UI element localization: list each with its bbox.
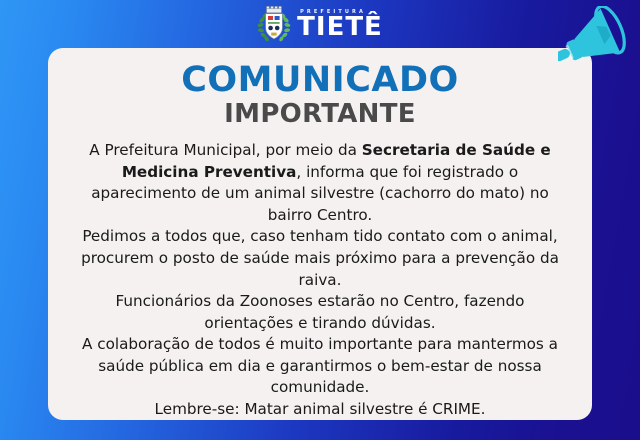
body-run: A Prefeitura Municipal, por meio da: [89, 141, 361, 159]
brand-prefeitura-label: PREFEITURA: [300, 10, 366, 15]
announcement-paragraph: Funcionários da Zoonoses estarão no Cent…: [78, 291, 562, 334]
announcement-poster: PREFEITURA TIETÊ COMUNICADO IMPORTANTE: [0, 0, 640, 440]
announcement-paragraph: Pedimos a todos que, caso tenham tido co…: [78, 226, 562, 291]
body-run: Funcionários da Zoonoses estarão no Cent…: [116, 292, 525, 332]
body-run: A colaboração de todos é muito important…: [82, 335, 558, 396]
brand-city-label: TIETÊ: [297, 16, 383, 40]
announcement-body: A Prefeitura Municipal, por meio da Secr…: [78, 140, 562, 421]
announcement-paragraph: A colaboração de todos é muito important…: [78, 334, 562, 399]
megaphone-icon: [558, 6, 638, 88]
body-run: Pedimos a todos que, caso tenham tido co…: [81, 227, 559, 288]
announcement-paragraph: Lembre-se: Matar animal silvestre é CRIM…: [78, 399, 562, 421]
tiete-coat-of-arms-icon: [257, 6, 291, 46]
announcement-card: COMUNICADO IMPORTANTE A Prefeitura Munic…: [48, 48, 592, 420]
announcement-paragraph: A Prefeitura Municipal, por meio da Secr…: [78, 140, 562, 226]
page-title: COMUNICADO: [78, 62, 562, 99]
body-run: Lembre-se: Matar animal silvestre é CRIM…: [155, 400, 486, 418]
page-subtitle: IMPORTANTE: [78, 101, 562, 128]
brand-wordmark: PREFEITURA TIETÊ: [297, 10, 383, 42]
prefeitura-logo: PREFEITURA TIETÊ: [0, 4, 640, 48]
